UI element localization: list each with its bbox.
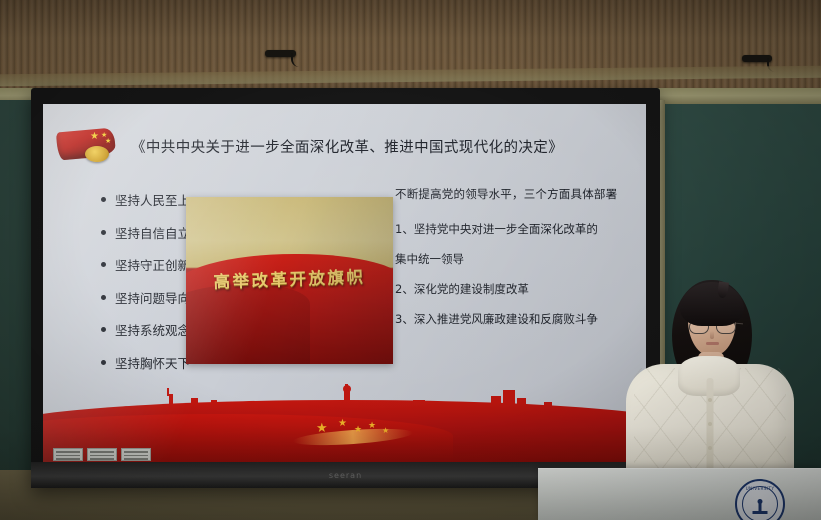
display-brand-label: seeran [329,471,362,480]
bullet-dot-icon [101,262,106,267]
bullet-label: 坚持系统观念 [115,320,190,339]
university-crest-icon: UNIVERSITY [735,479,785,520]
bullet-dot-icon [101,230,106,235]
bullet-label: 坚持守正创新 [115,255,190,274]
university-crest-label: UNIVERSITY [737,486,783,491]
right-column-item: 3、深入推进党风廉政建设和反腐败斗争 [395,307,635,331]
bullet-dot-icon [101,327,106,332]
bullet-label: 坚持人民至上 [115,190,190,209]
slide-header: ★ ★ ★ 《中共中央关于进一步全面深化改革、推进中国式现代化的决定》 [43,120,646,172]
right-column-item: 集中统一领导 [395,247,635,271]
wall-light-fixture-left [265,50,296,57]
bullet-label: 坚持问题导向 [115,288,190,307]
bullet-label: 坚持胸怀天下 [115,353,190,372]
bezel-sticker [53,448,83,461]
bezel-sticker [121,448,151,461]
bullet-dot-icon [101,197,106,202]
mouth [706,342,719,345]
china-flag-party-emblem-icon: ★ ★ ★ [57,126,121,166]
lectern-podium: UNIVERSITY [538,468,821,520]
wall-light-fixture-right [742,55,772,62]
right-column-item: 2、深化党的建设制度改革 [395,277,635,301]
bezel-sticker [87,448,117,461]
nose [710,331,714,339]
bezel-sticker-labels [53,448,151,461]
bullet-dot-icon [101,295,106,300]
interactive-flat-panel-display[interactable]: ★ ★ ★ 《中共中央关于进一步全面深化改革、推进中国式现代化的决定》 坚持人民… [31,88,660,488]
screenshot-root: ★ ★ ★ 《中共中央关于进一步全面深化改革、推进中国式现代化的决定》 坚持人民… [0,0,821,520]
right-column-heading: 不断提高党的领导水平，三个方面具体部署 [395,186,635,202]
right-column-item: 1、坚持党中央对进一步全面深化改革的 [395,217,635,241]
bullet-label: 坚持自信自立 [115,223,190,242]
golden-stars-flag-icon: ★ ★ ★ ★ ★ [308,418,418,440]
bullet-dot-icon [101,360,106,365]
slide-right-column: 不断提高党的领导水平，三个方面具体部署 1、坚持党中央对进一步全面深化改革的 集… [395,186,635,337]
slide-title: 《中共中央关于进一步全面深化改革、推进中国式现代化的决定》 [131,136,563,157]
red-flag-photo-icon: 高举改革开放旗帜 [186,197,393,364]
presentation-slide: ★ ★ ★ 《中共中央关于进一步全面深化改革、推进中国式现代化的决定》 坚持人民… [43,104,646,462]
